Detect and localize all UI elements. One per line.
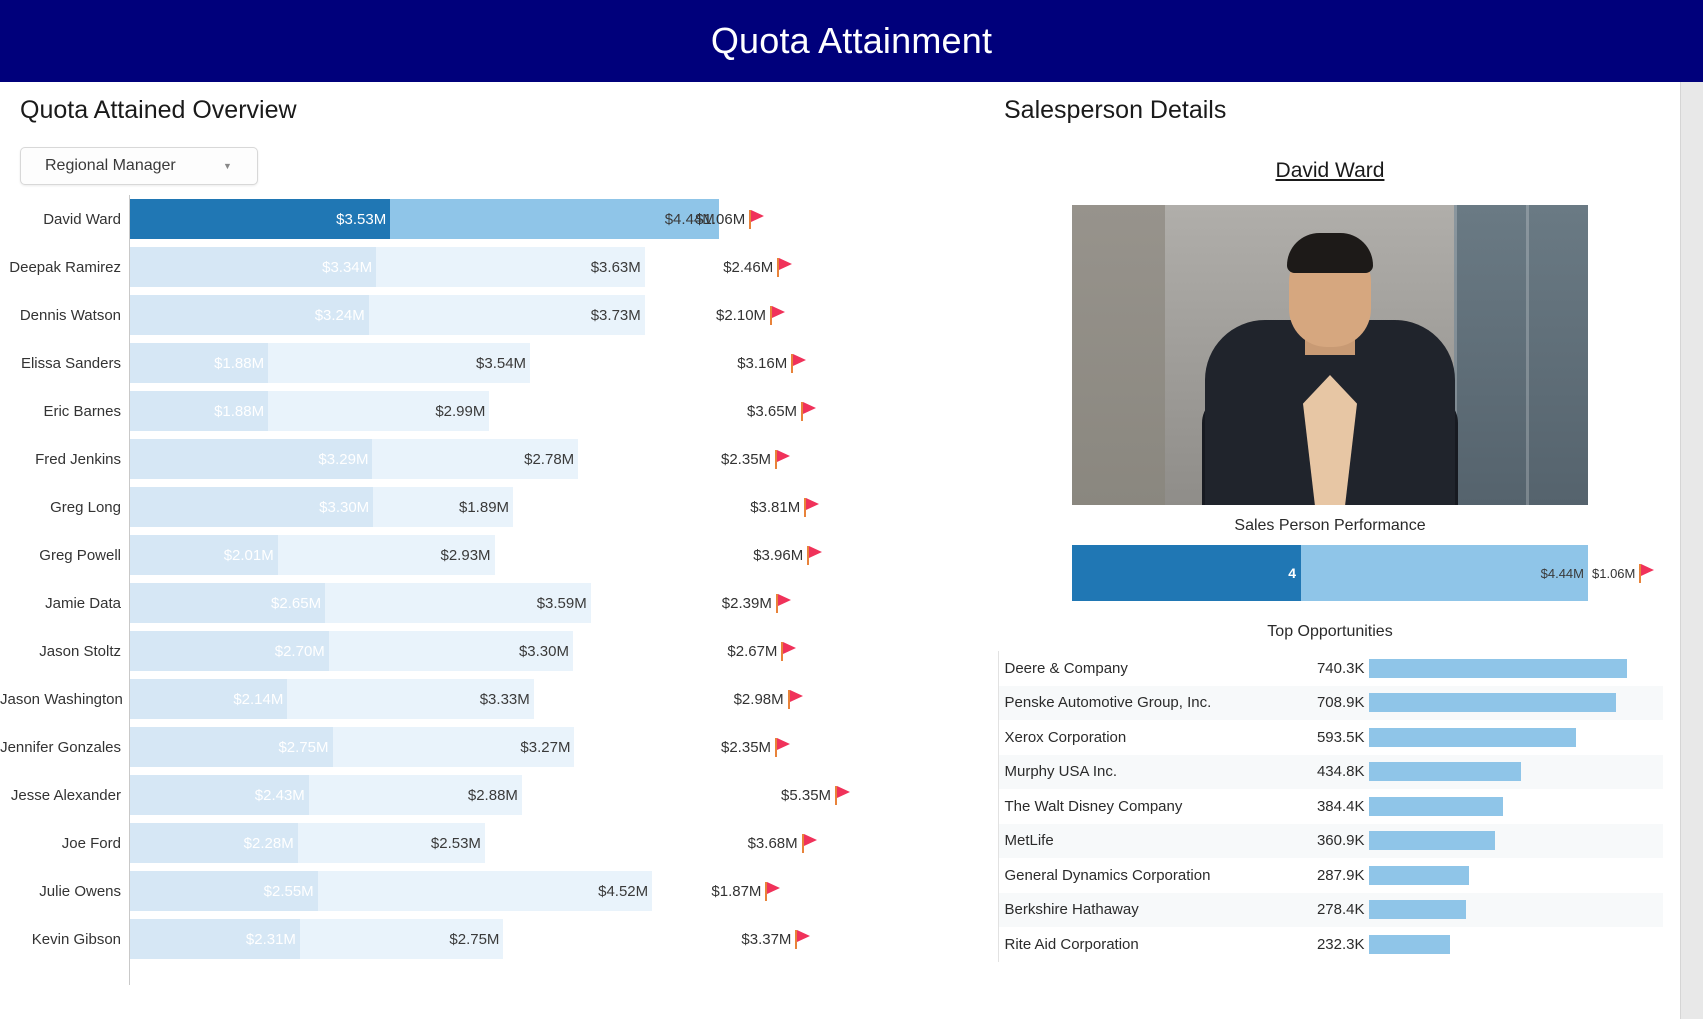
quota-row-track: $1.88M$3.54M$3.16M bbox=[129, 339, 980, 387]
opportunity-bar-cell bbox=[1369, 686, 1663, 721]
opportunity-value: 740.3K bbox=[1289, 660, 1369, 677]
opportunity-bar-cell bbox=[1369, 789, 1663, 824]
quota-row-name: Greg Powell bbox=[0, 547, 129, 564]
quota-segment-remaining: $3.73M bbox=[369, 295, 645, 335]
flag-icon bbox=[774, 737, 792, 757]
quota-flag-value: $3.96M bbox=[753, 547, 803, 564]
quota-segment-attained: $2.75M bbox=[129, 727, 333, 767]
opportunity-bar bbox=[1369, 935, 1450, 954]
opportunity-value: 434.8K bbox=[1289, 763, 1369, 780]
quota-segment-remaining: $2.75M bbox=[300, 919, 504, 959]
quota-row[interactable]: Deepak Ramirez$3.34M$3.63M$2.46M bbox=[0, 243, 980, 291]
quota-row[interactable]: Jamie Data$2.65M$3.59M$2.39M bbox=[0, 579, 980, 627]
quota-segment-remaining: $1.89M bbox=[373, 487, 513, 527]
quota-flag-value: $3.37M bbox=[741, 931, 791, 948]
quota-row-name: Jennifer Gonzales bbox=[0, 739, 129, 756]
flag-icon bbox=[764, 881, 782, 901]
opportunity-bar bbox=[1369, 659, 1627, 678]
salesperson-name-link[interactable]: David Ward bbox=[980, 159, 1680, 183]
dashboard-title-bar: Quota Attainment bbox=[0, 0, 1703, 82]
quota-flag-marker: $3.65M bbox=[747, 391, 818, 431]
quota-segment-remaining: $2.99M bbox=[268, 391, 489, 431]
quota-segment-remaining: $2.78M bbox=[372, 439, 578, 479]
quota-flag-marker: $1.87M bbox=[711, 871, 782, 911]
flag-icon bbox=[769, 305, 787, 325]
quota-segment-remaining: $2.53M bbox=[298, 823, 485, 863]
flag-icon bbox=[787, 689, 805, 709]
opportunity-name: Penske Automotive Group, Inc. bbox=[999, 694, 1289, 711]
quota-row-track: $3.30M$1.89M$3.81M bbox=[129, 483, 980, 531]
dropdown-selected-value: Regional Manager bbox=[21, 157, 223, 175]
quota-row-name: Kevin Gibson bbox=[0, 931, 129, 948]
quota-segment-remaining: $3.27M bbox=[333, 727, 575, 767]
quota-flag-marker: $5.35M bbox=[781, 775, 852, 815]
flag-icon bbox=[790, 353, 808, 373]
quota-overview-panel: Quota Attained Overview Regional Manager… bbox=[0, 82, 980, 1019]
quota-segment-attained: $2.31M bbox=[129, 919, 300, 959]
opportunity-row[interactable]: Penske Automotive Group, Inc.708.9K bbox=[999, 686, 1663, 721]
quota-segment-attained: $2.70M bbox=[129, 631, 329, 671]
quota-flag-value: $3.16M bbox=[737, 355, 787, 372]
opportunity-bar bbox=[1369, 797, 1503, 816]
quota-segment-remaining: $3.30M bbox=[329, 631, 573, 671]
quota-row-name: Jesse Alexander bbox=[0, 787, 129, 804]
quota-segment-remaining: $4.44M bbox=[390, 199, 719, 239]
flag-icon bbox=[801, 833, 819, 853]
quota-segment-attained: $2.28M bbox=[129, 823, 298, 863]
quota-segment-remaining: $2.93M bbox=[278, 535, 495, 575]
quota-row[interactable]: Elissa Sanders$1.88M$3.54M$3.16M bbox=[0, 339, 980, 387]
opportunity-name: Deere & Company bbox=[999, 660, 1289, 677]
opportunity-bar bbox=[1369, 900, 1466, 919]
quota-segment-remaining: $3.33M bbox=[287, 679, 533, 719]
quota-row[interactable]: Jennifer Gonzales$2.75M$3.27M$2.35M bbox=[0, 723, 980, 771]
salesperson-photo bbox=[1072, 205, 1588, 505]
performance-bar-attained: 4 bbox=[1072, 545, 1301, 601]
opportunity-row[interactable]: Berkshire Hathaway278.4K bbox=[999, 893, 1663, 928]
opportunity-value: 287.9K bbox=[1289, 867, 1369, 884]
opportunity-row[interactable]: Murphy USA Inc.434.8K bbox=[999, 755, 1663, 790]
performance-bar-remaining: $4.44M bbox=[1301, 545, 1588, 601]
quota-row-track: $2.70M$3.30M$2.67M bbox=[129, 627, 980, 675]
right-edge-strip bbox=[1680, 82, 1703, 1019]
flag-icon bbox=[1638, 563, 1656, 583]
performance-flag-marker: $1.06M bbox=[1592, 545, 1656, 601]
quota-row[interactable]: Greg Powell$2.01M$2.93M$3.96M bbox=[0, 531, 980, 579]
chart-axis-line bbox=[129, 195, 130, 985]
quota-row[interactable]: Eric Barnes$1.88M$2.99M$3.65M bbox=[0, 387, 980, 435]
opportunity-bar bbox=[1369, 762, 1521, 781]
opportunity-name: Berkshire Hathaway bbox=[999, 901, 1289, 918]
quota-segment-remaining: $2.88M bbox=[309, 775, 522, 815]
opportunity-bar bbox=[1369, 831, 1495, 850]
opportunity-row[interactable]: General Dynamics Corporation287.9K bbox=[999, 858, 1663, 893]
flag-icon bbox=[834, 785, 852, 805]
quota-rows-container: David Ward$3.53M$4.44M$1.06MDeepak Ramir… bbox=[0, 195, 980, 963]
quota-flag-value: $2.10M bbox=[716, 307, 766, 324]
top-opportunities-title: Top Opportunities bbox=[980, 623, 1680, 641]
top-opportunities-table: Deere & Company740.3KPenske Automotive G… bbox=[998, 651, 1663, 962]
quota-row[interactable]: Dennis Watson$3.24M$3.73M$2.10M bbox=[0, 291, 980, 339]
quota-segment-attained: $3.24M bbox=[129, 295, 369, 335]
flag-icon bbox=[794, 929, 812, 949]
quota-flag-value: $2.46M bbox=[723, 259, 773, 276]
quota-row-track: $2.65M$3.59M$2.39M bbox=[129, 579, 980, 627]
quota-row-track: $2.31M$2.75M$3.37M bbox=[129, 915, 980, 963]
quota-row-track: $3.24M$3.73M$2.10M bbox=[129, 291, 980, 339]
quota-flag-value: $5.35M bbox=[781, 787, 831, 804]
quota-row[interactable]: Julie Owens$2.55M$4.52M$1.87M bbox=[0, 867, 980, 915]
quota-segment-attained: $1.88M bbox=[129, 391, 268, 431]
quota-row-track: $2.14M$3.33M$2.98M bbox=[129, 675, 980, 723]
quota-flag-value: $2.35M bbox=[721, 451, 771, 468]
quota-row-name: Greg Long bbox=[0, 499, 129, 516]
opportunity-row[interactable]: MetLife360.9K bbox=[999, 824, 1663, 859]
opportunity-name: Xerox Corporation bbox=[999, 729, 1289, 746]
quota-flag-marker: $2.46M bbox=[723, 247, 794, 287]
quota-row-name: Jamie Data bbox=[0, 595, 129, 612]
quota-flag-marker: $3.68M bbox=[748, 823, 819, 863]
quota-row-track: $1.88M$2.99M$3.65M bbox=[129, 387, 980, 435]
salesperson-details-panel: Salesperson Details David Ward Sales Per… bbox=[980, 82, 1680, 1019]
quota-segment-attained: $3.30M bbox=[129, 487, 373, 527]
chevron-down-icon: ▼ bbox=[223, 161, 257, 171]
flag-icon bbox=[776, 257, 794, 277]
opportunity-row[interactable]: Xerox Corporation593.5K bbox=[999, 720, 1663, 755]
quota-row[interactable]: Jason Washington$2.14M$3.33M$2.98M bbox=[0, 675, 980, 723]
opportunity-row[interactable]: Rite Aid Corporation232.3K bbox=[999, 927, 1663, 962]
opportunity-bar bbox=[1369, 728, 1576, 747]
flag-icon bbox=[774, 449, 792, 469]
opportunity-bar-cell bbox=[1369, 927, 1663, 962]
opportunity-name: Murphy USA Inc. bbox=[999, 763, 1289, 780]
quota-flag-marker: $1.06M bbox=[695, 199, 766, 239]
quota-row-name: Eric Barnes bbox=[0, 403, 129, 420]
quota-row[interactable]: Kevin Gibson$2.31M$2.75M$3.37M bbox=[0, 915, 980, 963]
quota-segment-remaining: $3.59M bbox=[325, 583, 591, 623]
quota-row-name: Fred Jenkins bbox=[0, 451, 129, 468]
opportunity-value: 278.4K bbox=[1289, 901, 1369, 918]
opportunity-row[interactable]: The Walt Disney Company384.4K bbox=[999, 789, 1663, 824]
quota-row[interactable]: Jesse Alexander$2.43M$2.88M$5.35M bbox=[0, 771, 980, 819]
opportunity-value: 708.9K bbox=[1289, 694, 1369, 711]
quota-row-name: Elissa Sanders bbox=[0, 355, 129, 372]
performance-bar[interactable]: 4 $4.44M $1.06M bbox=[1072, 545, 1588, 601]
flag-icon bbox=[775, 593, 793, 613]
quota-row[interactable]: Joe Ford$2.28M$2.53M$3.68M bbox=[0, 819, 980, 867]
quota-flag-marker: $2.35M bbox=[721, 439, 792, 479]
quota-segment-attained: $2.43M bbox=[129, 775, 309, 815]
opportunity-bar-cell bbox=[1369, 720, 1663, 755]
opportunity-value: 593.5K bbox=[1289, 729, 1369, 746]
quota-flag-marker: $3.37M bbox=[741, 919, 812, 959]
opportunity-name: Rite Aid Corporation bbox=[999, 936, 1289, 953]
flag-icon bbox=[803, 497, 821, 517]
opportunity-value: 360.9K bbox=[1289, 832, 1369, 849]
quota-flag-value: $2.98M bbox=[734, 691, 784, 708]
quota-row[interactable]: Greg Long$3.30M$1.89M$3.81M bbox=[0, 483, 980, 531]
quota-segment-attained: $2.65M bbox=[129, 583, 325, 623]
opportunity-name: General Dynamics Corporation bbox=[999, 867, 1289, 884]
quota-flag-value: $2.67M bbox=[727, 643, 777, 660]
performance-caption: Sales Person Performance bbox=[980, 517, 1680, 535]
performance-flag-value: $1.06M bbox=[1592, 566, 1635, 581]
salesperson-details-heading: Salesperson Details bbox=[980, 82, 1680, 125]
opportunity-value: 232.3K bbox=[1289, 936, 1369, 953]
quota-row-name: David Ward bbox=[0, 211, 129, 228]
opportunity-row[interactable]: Deere & Company740.3K bbox=[999, 651, 1663, 686]
quota-flag-value: $3.81M bbox=[750, 499, 800, 516]
opportunity-bar-cell bbox=[1369, 755, 1663, 790]
quota-row-name: Joe Ford bbox=[0, 835, 129, 852]
quota-row-track: $3.29M$2.78M$2.35M bbox=[129, 435, 980, 483]
opportunity-name: MetLife bbox=[999, 832, 1289, 849]
quota-row-track: $3.34M$3.63M$2.46M bbox=[129, 243, 980, 291]
quota-segment-remaining: $4.52M bbox=[318, 871, 652, 911]
performance-rank-label: 4 bbox=[1288, 565, 1296, 581]
flag-icon bbox=[748, 209, 766, 229]
opportunity-bar bbox=[1369, 693, 1616, 712]
opportunity-value: 384.4K bbox=[1289, 798, 1369, 815]
flag-icon bbox=[780, 641, 798, 661]
quota-row-track: $2.55M$4.52M$1.87M bbox=[129, 867, 980, 915]
page-title: Quota Attainment bbox=[711, 20, 992, 62]
quota-flag-value: $3.65M bbox=[747, 403, 797, 420]
quota-segment-attained: $2.01M bbox=[129, 535, 278, 575]
quota-overview-heading: Quota Attained Overview bbox=[0, 82, 980, 125]
dashboard-root: Quota Attainment Quota Attained Overview… bbox=[0, 0, 1703, 1019]
quota-row-name: Jason Stoltz bbox=[0, 643, 129, 660]
quota-segment-remaining: $3.54M bbox=[268, 343, 530, 383]
quota-segment-attained: $2.55M bbox=[129, 871, 318, 911]
quota-row-track: $2.01M$2.93M$3.96M bbox=[129, 531, 980, 579]
opportunity-bar-cell bbox=[1369, 824, 1663, 859]
quota-flag-value: $1.06M bbox=[695, 211, 745, 228]
quota-flag-value: $2.39M bbox=[722, 595, 772, 612]
quota-flag-marker: $2.10M bbox=[716, 295, 787, 335]
quota-flag-marker: $2.67M bbox=[727, 631, 798, 671]
opportunity-bar-cell bbox=[1369, 893, 1663, 928]
quota-flag-marker: $2.39M bbox=[722, 583, 793, 623]
regional-manager-dropdown[interactable]: Regional Manager ▼ bbox=[20, 147, 258, 185]
quota-attained-chart: David Ward$3.53M$4.44M$1.06MDeepak Ramir… bbox=[0, 195, 980, 985]
opportunity-bar-cell bbox=[1369, 858, 1663, 893]
quota-flag-value: $1.87M bbox=[711, 883, 761, 900]
quota-row[interactable]: Jason Stoltz$2.70M$3.30M$2.67M bbox=[0, 627, 980, 675]
quota-segment-attained: $1.88M bbox=[129, 343, 268, 383]
quota-segment-attained: $2.14M bbox=[129, 679, 287, 719]
quota-row-name: Dennis Watson bbox=[0, 307, 129, 324]
quota-flag-marker: $3.96M bbox=[753, 535, 824, 575]
quota-segment-attained: $3.53M bbox=[129, 199, 390, 239]
quota-segment-remaining: $3.63M bbox=[376, 247, 645, 287]
flag-icon bbox=[806, 545, 824, 565]
quota-row-name: Julie Owens bbox=[0, 883, 129, 900]
performance-value-b: $4.44M bbox=[1541, 566, 1584, 581]
quota-flag-value: $3.68M bbox=[748, 835, 798, 852]
quota-flag-marker: $3.16M bbox=[737, 343, 808, 383]
quota-row-track: $2.43M$2.88M$5.35M bbox=[129, 771, 980, 819]
flag-icon bbox=[800, 401, 818, 421]
quota-row[interactable]: David Ward$3.53M$4.44M$1.06M bbox=[0, 195, 980, 243]
opportunity-bar bbox=[1369, 866, 1469, 885]
quota-flag-marker: $2.35M bbox=[721, 727, 792, 767]
quota-segment-attained: $3.29M bbox=[129, 439, 372, 479]
dashboard-body: Quota Attained Overview Regional Manager… bbox=[0, 82, 1703, 1019]
opportunity-bar-cell bbox=[1369, 651, 1663, 686]
quota-row-track: $2.75M$3.27M$2.35M bbox=[129, 723, 980, 771]
quota-flag-marker: $3.81M bbox=[750, 487, 821, 527]
quota-row-track: $3.53M$4.44M$1.06M bbox=[129, 195, 980, 243]
quota-row-name: Deepak Ramirez bbox=[0, 259, 129, 276]
quota-flag-value: $2.35M bbox=[721, 739, 771, 756]
quota-row[interactable]: Fred Jenkins$3.29M$2.78M$2.35M bbox=[0, 435, 980, 483]
opportunity-name: The Walt Disney Company bbox=[999, 798, 1289, 815]
quota-row-name: Jason Washington bbox=[0, 691, 129, 708]
quota-segment-attained: $3.34M bbox=[129, 247, 376, 287]
quota-row-track: $2.28M$2.53M$3.68M bbox=[129, 819, 980, 867]
quota-flag-marker: $2.98M bbox=[734, 679, 805, 719]
